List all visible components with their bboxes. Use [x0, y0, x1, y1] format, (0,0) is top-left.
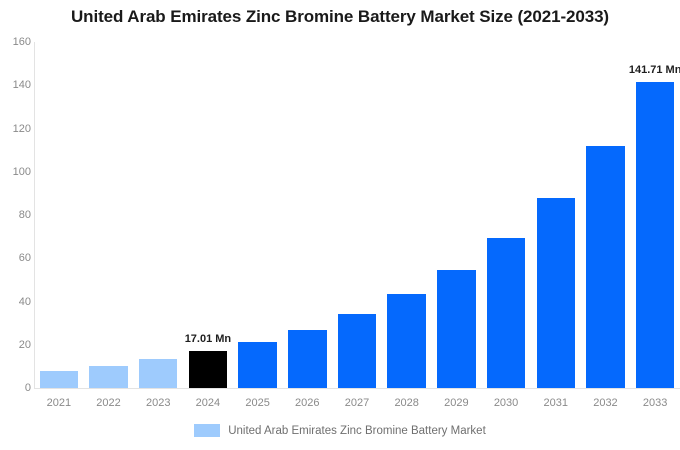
- x-axis-tick-label: 2028: [382, 397, 432, 409]
- x-axis-tick-label: 2032: [581, 397, 631, 409]
- x-axis-tick-label: 2027: [332, 397, 382, 409]
- bar-rect[interactable]: [487, 238, 526, 388]
- bar-rect[interactable]: [139, 359, 178, 388]
- bar-rect[interactable]: [89, 366, 128, 388]
- bar-value-label: 17.01 Mn: [185, 333, 231, 345]
- x-axis-tick-label: 2023: [133, 397, 183, 409]
- bar-rect[interactable]: [586, 146, 625, 388]
- bar-chart: United Arab Emirates Zinc Bromine Batter…: [0, 0, 680, 450]
- bar-rect[interactable]: [288, 330, 327, 388]
- bar-rect[interactable]: [636, 82, 675, 388]
- x-axis-tick-label: 2025: [233, 397, 283, 409]
- x-axis-tick-label: 2022: [84, 397, 134, 409]
- bar-rect[interactable]: [437, 270, 476, 389]
- legend-item-label: United Arab Emirates Zinc Bromine Batter…: [228, 425, 486, 437]
- bar-2022[interactable]: [89, 42, 128, 388]
- x-axis-tick-label: 2030: [481, 397, 531, 409]
- bar-value-label: 141.71 Mn: [629, 64, 680, 76]
- bar-2021[interactable]: [40, 42, 79, 388]
- bar-2031[interactable]: [537, 42, 576, 388]
- bar-rect[interactable]: [238, 342, 277, 388]
- bar-2026[interactable]: [288, 42, 327, 388]
- bar-2030[interactable]: [487, 42, 526, 388]
- bar-2025[interactable]: [238, 42, 277, 388]
- bar-2032[interactable]: [586, 42, 625, 388]
- bar-rect[interactable]: [189, 351, 228, 388]
- x-axis-tick-label: 2033: [630, 397, 680, 409]
- x-axis-tick-label: 2024: [183, 397, 233, 409]
- x-axis-tick-label: 2031: [531, 397, 581, 409]
- x-axis-tick-label: 2026: [282, 397, 332, 409]
- x-axis-tick-label: 2029: [432, 397, 482, 409]
- x-axis-tick-label: 2021: [34, 397, 84, 409]
- bar-2028[interactable]: [387, 42, 426, 388]
- chart-legend: United Arab Emirates Zinc Bromine Batter…: [0, 424, 680, 437]
- bar-2023[interactable]: [139, 42, 178, 388]
- bars-layer: 202120222023202417.01 Mn2025202620272028…: [0, 0, 680, 450]
- bar-2033[interactable]: [636, 42, 675, 388]
- bar-rect[interactable]: [338, 314, 377, 388]
- bar-rect[interactable]: [387, 294, 426, 388]
- bar-2029[interactable]: [437, 42, 476, 388]
- bar-rect[interactable]: [537, 198, 576, 388]
- bar-rect[interactable]: [40, 371, 79, 388]
- legend-swatch-icon: [194, 424, 220, 437]
- bar-2027[interactable]: [338, 42, 377, 388]
